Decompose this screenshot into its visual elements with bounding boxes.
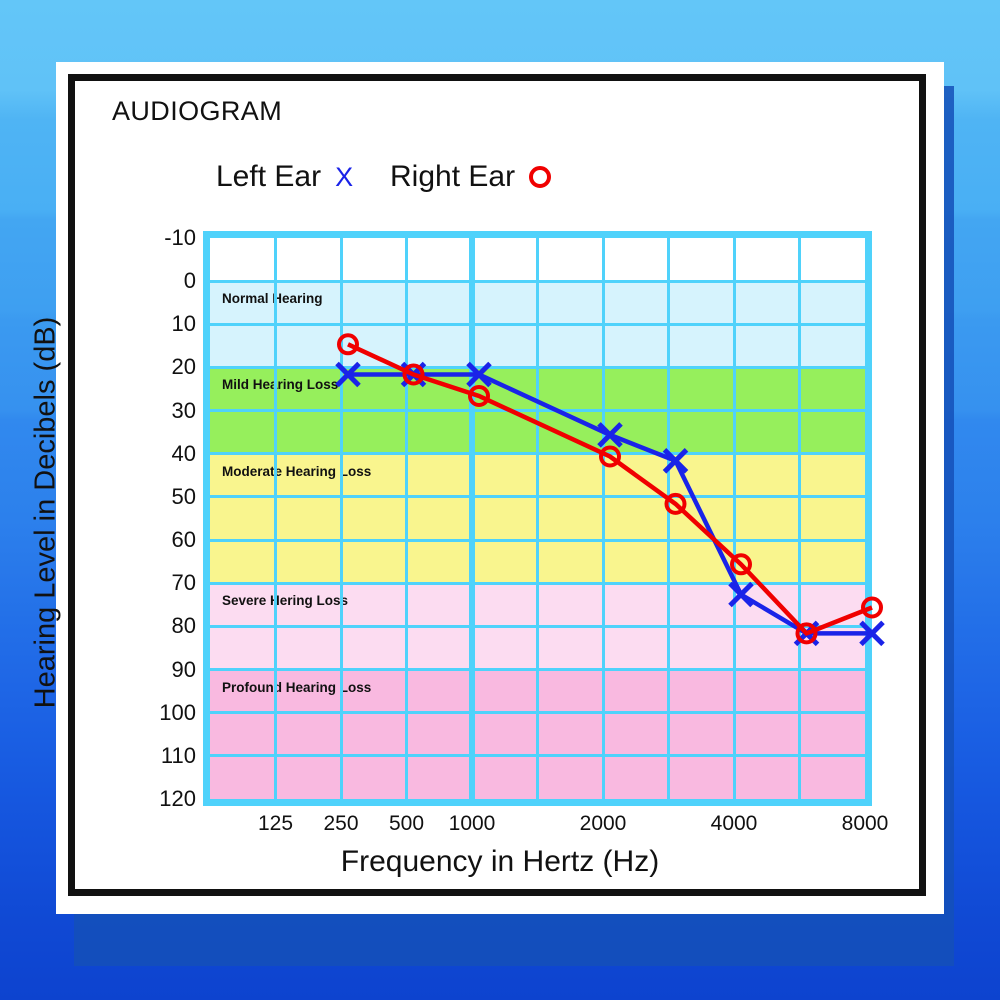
y-axis-tick-label: 70 xyxy=(172,570,196,596)
legend-item-right-ear: Right Ear xyxy=(390,160,551,194)
y-axis-tick-label: 10 xyxy=(172,311,196,337)
y-axis-tick-label: 100 xyxy=(159,700,196,726)
x-axis-label: Frequency in Hertz (Hz) xyxy=(0,845,1000,879)
series-line-left-ear xyxy=(348,375,872,634)
data-point-x-marker-icon xyxy=(665,450,687,472)
y-axis-tick-label: 0 xyxy=(184,268,196,294)
x-axis-tick-label: 500 xyxy=(389,812,424,836)
plot-frame: Normal HearingMild Hearing LossModerate … xyxy=(203,231,872,806)
x-axis-tick-label: 8000 xyxy=(842,812,889,836)
y-axis-tick-label: 30 xyxy=(172,398,196,424)
y-axis-tick-label: 40 xyxy=(172,441,196,467)
series-line-right-ear xyxy=(348,344,872,633)
audiogram-poster: AUDIOGRAM Left Ear X Right Ear -10010203… xyxy=(0,0,1000,1000)
y-axis-tick-label: 110 xyxy=(161,743,196,769)
y-axis-label: Hearing Level in Decibels (dB) xyxy=(30,293,63,733)
plot-area: Normal HearingMild Hearing LossModerate … xyxy=(203,231,872,806)
y-axis-ticks: -100102030405060708090100110120 xyxy=(148,231,196,806)
data-point-x-marker-icon xyxy=(730,584,752,606)
y-axis-tick-label: 80 xyxy=(172,613,196,639)
legend-label-left-ear: Left Ear xyxy=(216,160,321,194)
y-axis-tick-label: 20 xyxy=(172,354,196,380)
x-axis-tick-label: 4000 xyxy=(711,812,758,836)
o-marker-icon xyxy=(529,166,551,188)
x-axis-tick-label: 2000 xyxy=(580,812,627,836)
y-axis-tick-label: 60 xyxy=(172,527,196,553)
y-axis-tick-label: 90 xyxy=(172,657,196,683)
y-axis-tick-label: 120 xyxy=(159,786,196,812)
legend-label-right-ear: Right Ear xyxy=(390,160,515,194)
x-marker-icon: X xyxy=(335,162,353,193)
data-point-x-marker-icon xyxy=(599,424,621,446)
page-title: AUDIOGRAM xyxy=(112,96,282,127)
x-axis-ticks: 1252505001000200040008000 xyxy=(203,812,872,842)
y-axis-tick-label: 50 xyxy=(172,484,196,510)
data-point-o-marker-icon xyxy=(339,335,357,353)
x-axis-tick-label: 1000 xyxy=(449,812,496,836)
x-axis-tick-label: 125 xyxy=(258,812,293,836)
x-axis-tick-label: 250 xyxy=(323,812,358,836)
y-axis-tick-label: -10 xyxy=(164,225,196,251)
legend-item-left-ear: Left Ear X xyxy=(216,160,353,194)
series-layer xyxy=(210,238,879,813)
